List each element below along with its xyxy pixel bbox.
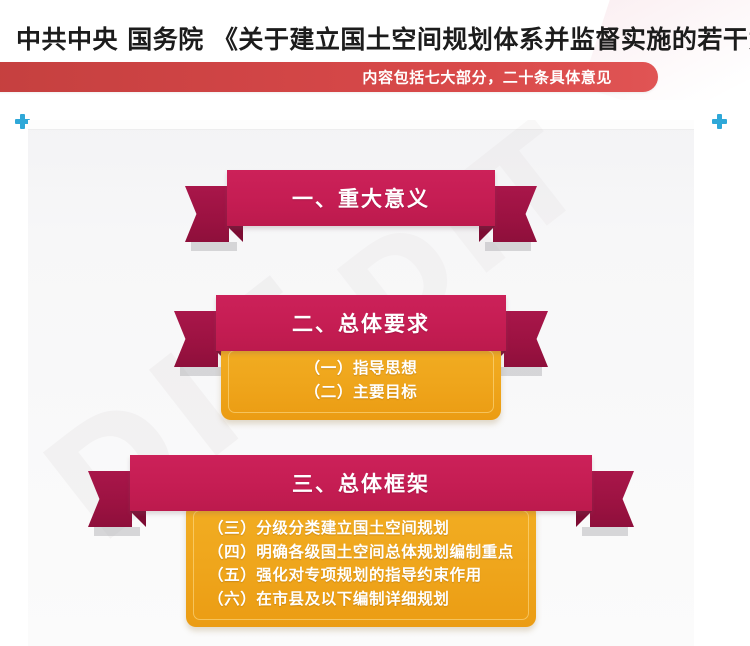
- section-2-item-list: （一）指导思想 （二）主要目标: [221, 357, 501, 404]
- ribbon-tail-left: [174, 311, 218, 367]
- section-3-title: 三、总体框架: [130, 468, 592, 498]
- section-1-ribbon: 一、重大意义: [227, 170, 495, 226]
- section-2-title: 二、总体要求: [216, 308, 506, 338]
- ribbon-tail-right: [493, 186, 537, 242]
- ribbon-tail-shadow-right: [496, 367, 542, 376]
- poster-header: 中共中央 国务院 《关于建立国土空间规划体系并监督实施的若干意见》 内容包括七大…: [0, 0, 750, 100]
- section-3-detail-box: （三）分级分类建立国土空间规划 （四）明确各级国土空间总体规划编制重点 （五）强…: [186, 503, 536, 627]
- plus-marker-icon-right: [712, 114, 727, 129]
- section-2-ribbon: 二、总体要求: [216, 295, 506, 351]
- subtitle-text: 内容包括七大部分，二十条具体意见: [362, 67, 612, 88]
- panel-top-rule: [28, 120, 694, 130]
- subtitle-banner: 内容包括七大部分，二十条具体意见: [0, 62, 658, 92]
- ribbon-tail-shadow-left: [94, 527, 140, 536]
- ribbon-fold-right: [479, 226, 495, 242]
- list-item: （二）主要目标: [221, 381, 501, 405]
- ribbon-tail-shadow-right: [485, 242, 531, 251]
- section-block-1: 一、重大意义: [56, 170, 666, 226]
- ribbon-fold-left: [227, 226, 243, 242]
- list-item: （一）指导思想: [221, 357, 501, 381]
- list-item: （六）在市县及以下编制详细规划: [208, 588, 536, 612]
- infographic-poster: 中共中央 国务院 《关于建立国土空间规划体系并监督实施的若干意见》 内容包括七大…: [0, 0, 750, 646]
- ribbon-fold-right: [576, 511, 592, 527]
- ribbon-tail-left: [185, 186, 229, 242]
- section-3-item-list: （三）分级分类建立国土空间规划 （四）明确各级国土空间总体规划编制重点 （五）强…: [186, 517, 536, 611]
- list-item: （三）分级分类建立国土空间规划: [208, 517, 536, 541]
- list-item: （四）明确各级国土空间总体规划编制重点: [208, 541, 536, 565]
- ribbon-tail-right: [590, 471, 634, 527]
- section-2-detail-box: （一）指导思想 （二）主要目标: [221, 343, 501, 420]
- section-block-3: 三、总体框架 （三）分级分类建立国土空间规划 （四）明确各级国土空间总体规划编制…: [56, 455, 666, 627]
- section-block-2: 二、总体要求 （一）指导思想 （二）主要目标: [56, 295, 666, 420]
- ribbon-tail-shadow-right: [582, 527, 628, 536]
- ribbon-tail-shadow-left: [191, 242, 237, 251]
- page-title: 中共中央 国务院 《关于建立国土空间规划体系并监督实施的若干意见》: [16, 20, 750, 56]
- ribbon-tail-left: [88, 471, 132, 527]
- content-panel: DIT DIT 一、重大意义: [28, 120, 694, 646]
- ribbon-fold-left: [130, 511, 146, 527]
- section-1-title: 一、重大意义: [227, 183, 495, 213]
- ribbon-tail-shadow-left: [180, 367, 226, 376]
- section-3-ribbon: 三、总体框架: [130, 455, 592, 511]
- list-item: （五）强化对专项规划的指导约束作用: [208, 564, 536, 588]
- ribbon-tail-right: [504, 311, 548, 367]
